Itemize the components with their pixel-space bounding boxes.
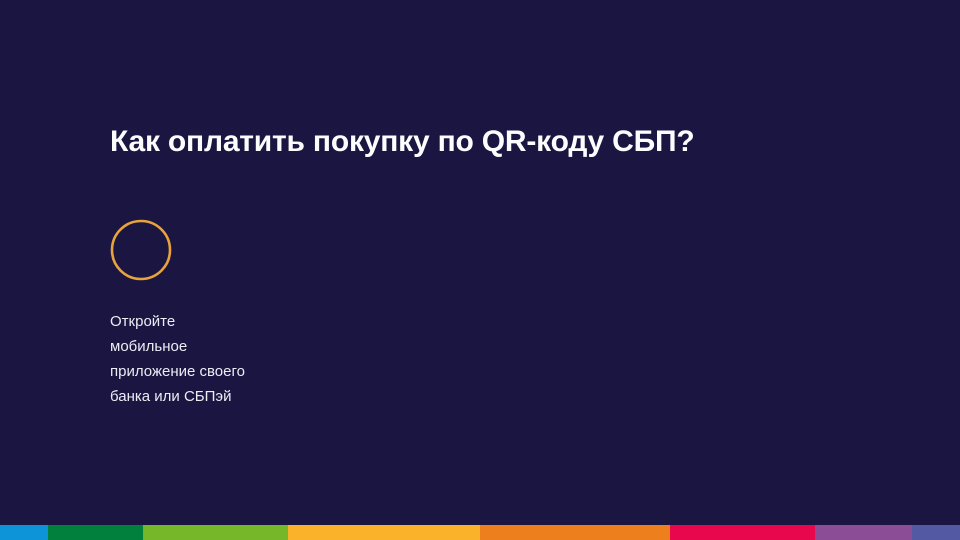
footer-segment-purple <box>815 525 912 540</box>
footer-segment-yellow <box>288 525 480 540</box>
footer-color-bar <box>0 525 960 540</box>
page-title: Как оплатить покупку по QR-коду СБП? <box>110 125 694 158</box>
footer-segment-dark-green <box>48 525 143 540</box>
footer-segment-blue <box>0 525 48 540</box>
slide-canvas: Как оплатить покупку по QR-коду СБП? Отк… <box>0 0 960 540</box>
footer-segment-crimson <box>670 525 815 540</box>
footer-segment-violet-blue <box>912 525 960 540</box>
footer-segment-light-green <box>143 525 288 540</box>
step-block: Откройте мобильное приложение своего бан… <box>110 219 410 409</box>
step-description: Откройте мобильное приложение своего бан… <box>110 309 410 409</box>
circle-outline-icon <box>110 219 172 281</box>
footer-segment-orange <box>480 525 670 540</box>
